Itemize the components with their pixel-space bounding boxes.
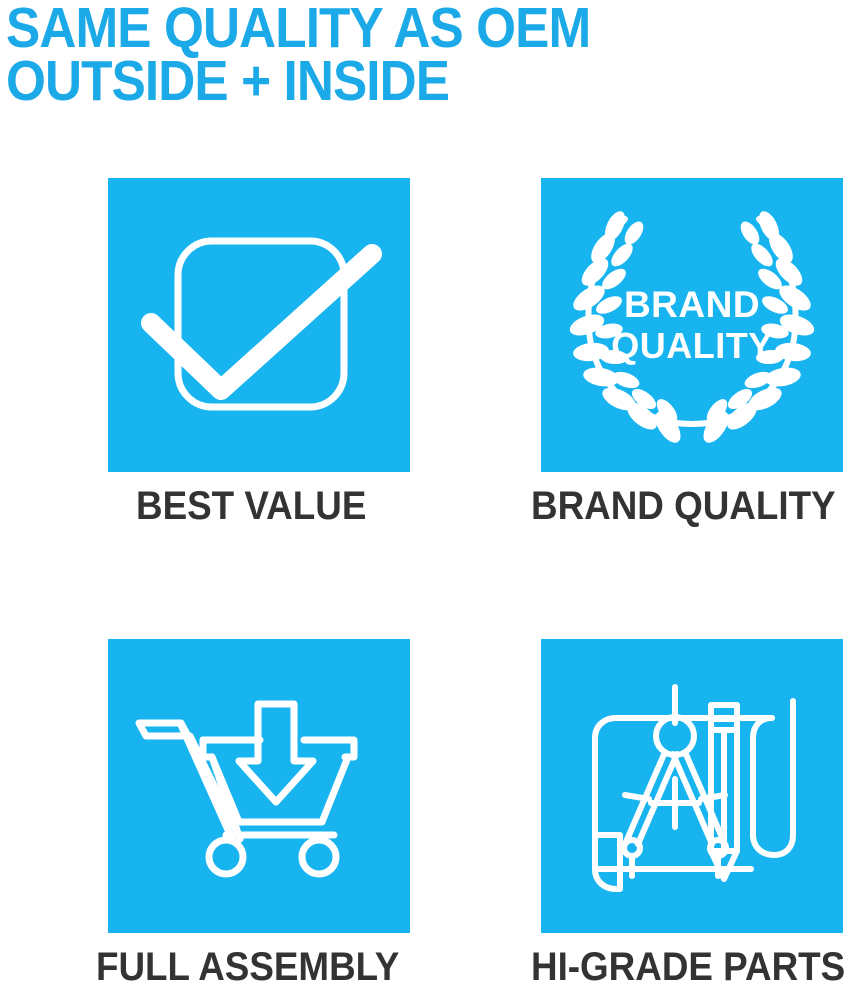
feature-full-assembly: FULL ASSEMBLY: [108, 639, 410, 989]
headline-line-1: SAME QUALITY AS OEM: [6, 2, 776, 55]
feature-row-2: FULL ASSEMBLY: [108, 639, 862, 989]
feature-label-hi-grade-parts: HI-GRADE PARTS: [531, 945, 818, 989]
feature-hi-grade-parts: HI-GRADE PARTS: [541, 639, 843, 989]
checkmark-box-icon: [108, 178, 410, 472]
feature-label-full-assembly: FULL ASSEMBLY: [96, 945, 385, 989]
shopping-cart-download-icon: [108, 639, 410, 933]
feature-tile-full-assembly: [108, 639, 410, 933]
blueprint-compass-pencil-icon: [541, 639, 843, 933]
feature-row-1: BEST VALUE: [108, 178, 862, 528]
laurel-wreath-icon: [541, 178, 843, 472]
feature-best-value: BEST VALUE: [108, 178, 410, 528]
feature-tile-brand-quality: BRAND QUALITY: [541, 178, 843, 472]
feature-tile-best-value: [108, 178, 410, 472]
feature-tile-hi-grade-parts: [541, 639, 843, 933]
feature-label-brand-quality: BRAND QUALITY: [531, 484, 818, 528]
feature-brand-quality: BRAND QUALITY BRAND QUALITY: [541, 178, 843, 528]
feature-label-best-value: BEST VALUE: [136, 484, 388, 528]
headline-line-2: OUTSIDE + INSIDE: [6, 55, 776, 108]
headline: SAME QUALITY AS OEM OUTSIDE + INSIDE: [6, 2, 862, 108]
feature-grid: BEST VALUE: [108, 178, 862, 989]
